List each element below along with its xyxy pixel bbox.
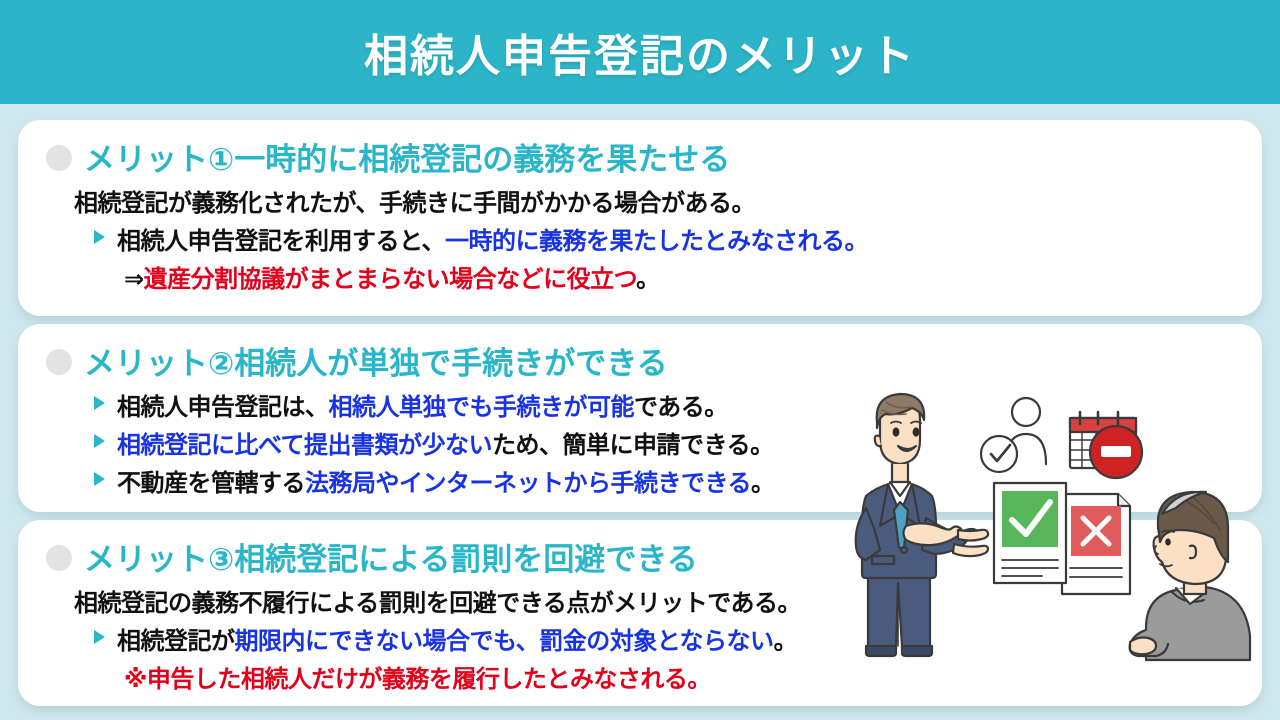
dot-bullet-icon (46, 545, 72, 571)
page-title: 相続人申告登記のメリット (364, 20, 916, 84)
text-highlight-blue: 期限内にできない場合でも、罰金の対象とならない (235, 628, 774, 655)
card-3-sub: ※申告した相続人だけが義務を履行したとみなされる。 (124, 659, 1234, 694)
triangle-bullet-icon (94, 434, 105, 448)
card-1-heading-row: メリット①一時的に相続登記の義務を果たせる (46, 134, 1234, 179)
dot-bullet-icon (46, 145, 72, 171)
text-highlight-red: 遺産分割協議がまとまらない場合などに役立つ (144, 266, 637, 293)
text-plain-after: である。 (634, 394, 728, 421)
triangle-bullet-icon (94, 230, 105, 244)
text-plain-after: 。 (751, 470, 775, 497)
card-2-bullet-2: 相続登記に比べて提出書類が少ないため、簡単に申請できる。 (94, 425, 1234, 460)
card-1-lead: 相続登記が義務化されたが、手続きに手間がかかる場合がある。 (74, 183, 1234, 218)
text-highlight-blue: 相続人単独でも手続きが可能 (329, 394, 635, 421)
triangle-bullet-icon (94, 472, 105, 486)
merit-card-1: メリット①一時的に相続登記の義務を果たせる 相続登記が義務化されたが、手続きに手… (18, 120, 1262, 316)
card-3-bullet-1-text: 相続登記が期限内にできない場合でも、罰金の対象とならない。 (117, 621, 797, 656)
header-bar: 相続人申告登記のメリット (0, 0, 1280, 104)
text-plain: 相続人申告登記は、 (117, 394, 329, 421)
card-2-bullet-3: 不動産を管轄する法務局やインターネットから手続きできる。 (94, 463, 1234, 498)
card-3-heading-row: メリット③相続登記による罰則を回避できる (46, 534, 1234, 579)
text-highlight-blue: 法務局やインターネットから手続きできる (305, 470, 751, 497)
text-highlight-blue: 一時的に義務を果たしたとみなされる。 (445, 228, 868, 255)
arrow-prefix: ⇒ (124, 266, 144, 293)
card-3-bullet-1: 相続登記が期限内にできない場合でも、罰金の対象とならない。 (94, 621, 1234, 656)
text-plain-after: 。 (774, 628, 798, 655)
text-plain: 不動産を管轄する (117, 470, 305, 497)
merit-card-3: メリット③相続登記による罰則を回避できる 相続登記の義務不履行による罰則を回避で… (18, 520, 1262, 706)
triangle-bullet-icon (94, 396, 105, 410)
note-prefix: ※ (124, 666, 147, 693)
card-1-heading: メリット①一時的に相続登記の義務を果たせる (84, 134, 730, 179)
dot-bullet-icon (46, 349, 72, 375)
text-plain: 相続登記が (117, 628, 235, 655)
sub-suffix: 。 (636, 266, 660, 293)
card-1-bullet-1: 相続人申告登記を利用すると、一時的に義務を果たしたとみなされる。 (94, 221, 1234, 256)
card-3-heading: メリット③相続登記による罰則を回避できる (84, 534, 698, 579)
card-2-bullet-1: 相続人申告登記は、相続人単独でも手続きが可能である。 (94, 387, 1234, 422)
merit-card-2: メリット②相続人が単独で手続きができる 相続人申告登記は、相続人単独でも手続きが… (18, 324, 1262, 512)
card-1-sub: ⇒遺産分割協議がまとまらない場合などに役立つ。 (124, 259, 1234, 294)
card-2-heading-row: メリット②相続人が単独で手続きができる (46, 338, 1234, 383)
triangle-bullet-icon (94, 630, 105, 644)
card-2-bullet-3-text: 不動産を管轄する法務局やインターネットから手続きできる。 (117, 463, 775, 498)
text-plain-after: ため、簡単に申請できる。 (492, 432, 774, 459)
text-plain: 相続人申告登記を利用すると、 (117, 228, 445, 255)
card-3-lead: 相続登記の義務不履行による罰則を回避できる点がメリットである。 (74, 583, 1234, 618)
card-2-bullet-1-text: 相続人申告登記は、相続人単独でも手続きが可能である。 (117, 387, 728, 422)
text-highlight-blue: 相続登記に比べて提出書類が少ない (117, 432, 492, 459)
card-2-heading: メリット②相続人が単独で手続きができる (84, 338, 668, 383)
text-highlight-red: 申告した相続人だけが義務を履行したとみなされる。 (147, 666, 711, 693)
card-1-bullet-1-text: 相続人申告登記を利用すると、一時的に義務を果たしたとみなされる。 (117, 221, 868, 256)
card-2-bullet-2-text: 相続登記に比べて提出書類が少ないため、簡単に申請できる。 (117, 425, 774, 460)
